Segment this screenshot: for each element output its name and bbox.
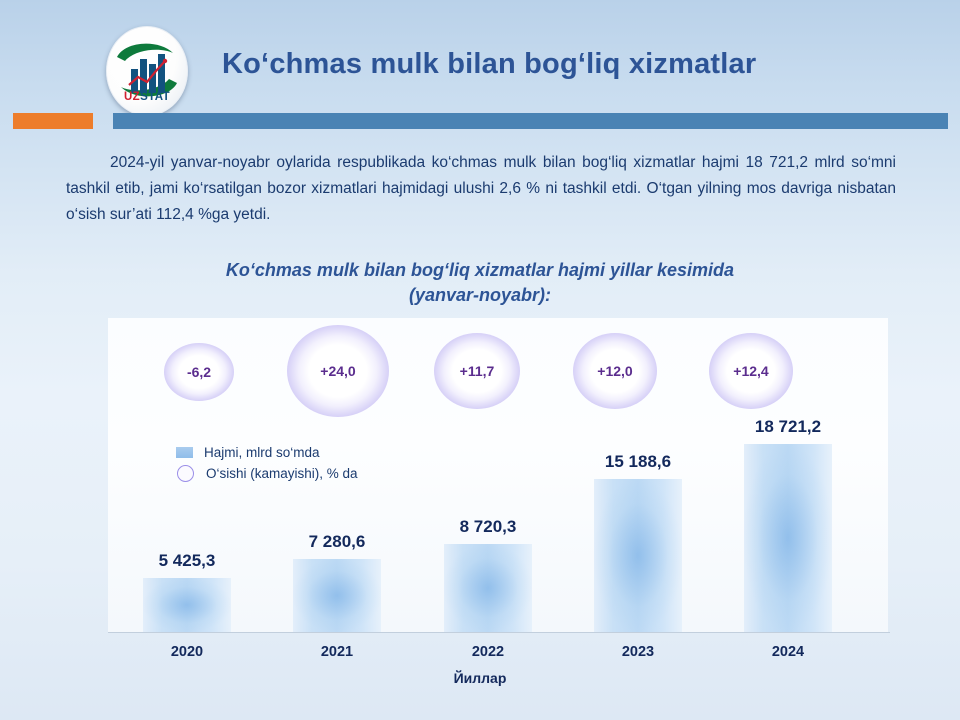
growth-bubble-label: +12,0: [597, 363, 632, 379]
bar-value-label-2021: 7 280,6: [267, 532, 407, 552]
chart-title-line1: Ko‘chmas mulk bilan bog‘liq xizmatlar ha…: [110, 258, 850, 283]
bar-value-label-2024: 18 721,2: [718, 417, 858, 437]
growth-bubble-label: +11,7: [460, 363, 495, 379]
accent-rule-orange: [13, 113, 93, 129]
bar-2021: [293, 559, 381, 632]
growth-bubble-2024: +12,4: [709, 333, 793, 409]
growth-bubble-2021: +24,0: [287, 325, 389, 417]
chart-title: Ko‘chmas mulk bilan bog‘liq xizmatlar ha…: [110, 258, 850, 308]
legend-circle-swatch-icon: [177, 465, 194, 482]
chart-title-line2: (yanvar-noyabr):: [110, 283, 850, 308]
growth-bubble-2023: +12,0: [573, 333, 657, 409]
bar-2022: [444, 544, 532, 632]
legend-item-bars: Hajmi, mlrd so‘mda: [176, 442, 358, 463]
page-title: Ko‘chmas mulk bilan bog‘liq xizmatlar: [222, 48, 756, 81]
bar-value-label-2020: 5 425,3: [117, 551, 257, 571]
logo-uz-text: UZ: [124, 91, 140, 103]
bar-value-label-2022: 8 720,3: [418, 517, 558, 537]
intro-paragraph: 2024-yil yanvar-noyabr oylarida respubli…: [66, 150, 896, 228]
legend-bar-swatch-icon: [176, 447, 193, 458]
x-axis-title: Йиллар: [0, 670, 960, 686]
growth-bubble-label: +12,4: [733, 363, 768, 379]
growth-bubble-2020: -6,2: [164, 343, 234, 401]
uzstat-logo: UZSTAT: [106, 26, 186, 114]
accent-rule-blue: [113, 113, 948, 129]
x-axis-label-2020: 2020: [137, 644, 237, 660]
bar-2024: [744, 444, 832, 632]
chart-legend: Hajmi, mlrd so‘mda O‘sishi (kamayishi), …: [176, 442, 358, 484]
growth-bubble-label: -6,2: [187, 364, 211, 380]
logo-stat-text: STAT: [140, 91, 170, 103]
growth-bubble-2022: +11,7: [434, 333, 520, 409]
chart-axis-line: [108, 632, 890, 633]
x-axis-label-2023: 2023: [588, 644, 688, 660]
logo-oval: UZSTAT: [106, 26, 188, 116]
growth-bubble-label: +24,0: [320, 363, 355, 379]
legend-item-bubbles: O‘sishi (kamayishi), % da: [176, 463, 358, 484]
bar-2023: [594, 479, 682, 632]
legend-bars-label: Hajmi, mlrd so‘mda: [204, 442, 320, 463]
legend-bubbles-label: O‘sishi (kamayishi), % da: [206, 463, 358, 484]
bar-value-label-2023: 15 188,6: [568, 452, 708, 472]
x-axis-label-2021: 2021: [287, 644, 387, 660]
infographic-page: UZSTAT Ko‘chmas mulk bilan bog‘liq xizma…: [0, 0, 960, 720]
bar-2020: [143, 578, 231, 632]
x-axis-label-2024: 2024: [738, 644, 838, 660]
x-axis-label-2022: 2022: [438, 644, 538, 660]
